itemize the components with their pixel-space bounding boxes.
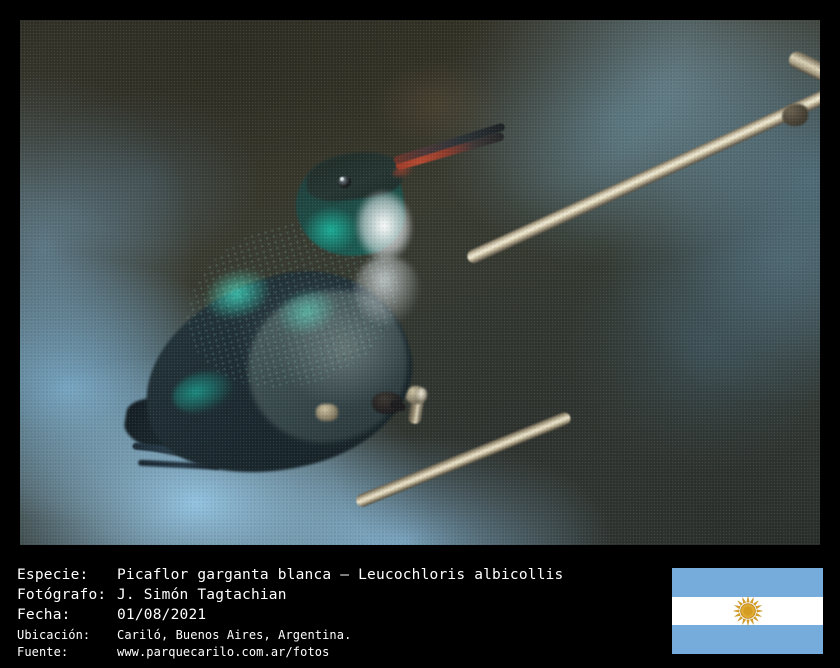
sun-of-may-icon — [733, 596, 763, 626]
caption-label-ubicacion: Ubicación: — [17, 628, 90, 642]
white-throat-lower — [354, 256, 420, 326]
flag-stripe-top — [672, 568, 823, 597]
caption-label-fuente: Fuente: — [17, 645, 68, 659]
argentina-flag — [672, 568, 823, 654]
flag-stripe-bottom — [672, 625, 823, 654]
caption-label-fecha: Fecha: — [17, 607, 71, 623]
caption-label-especie: Especie: — [17, 567, 88, 583]
photo-card: Especie: Picaflor garganta blanca – Leuc… — [0, 0, 840, 668]
caption-value-fotografo: J. Simón Tagtachian — [117, 587, 287, 603]
leg-band — [316, 404, 338, 421]
hummingbird-photograph — [20, 20, 820, 545]
caption-value-especie: Picaflor garganta blanca – Leucochloris … — [117, 567, 564, 583]
caption-row-fuente: Fuente: www.parquecarilo.com.ar/fotos — [17, 645, 61, 668]
caption-label-fotografo: Fotógrafo: — [17, 587, 106, 603]
hummingbird — [20, 20, 820, 545]
caption-value-fecha: 01/08/2021 — [117, 607, 206, 623]
caption-value-ubicacion: Cariló, Buenos Aires, Argentina. — [117, 628, 351, 642]
eye-glint — [340, 177, 344, 181]
caption-value-fuente: www.parquecarilo.com.ar/fotos — [117, 645, 329, 659]
caption-block: Especie: Picaflor garganta blanca – Leuc… — [0, 548, 660, 668]
